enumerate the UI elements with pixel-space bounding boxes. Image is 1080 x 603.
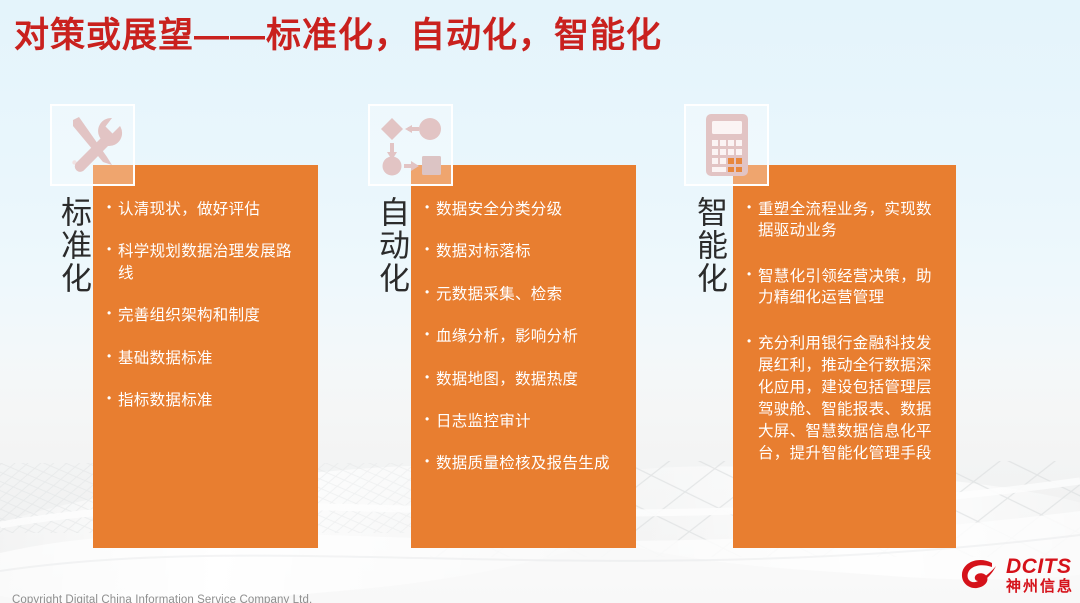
list-item: 数据质量检核及报告生成	[425, 453, 624, 474]
brand-name-en: DCITS	[1006, 556, 1074, 577]
list-item: 指标数据标准	[107, 390, 306, 411]
brand-text: DCITS 神州信息	[1006, 556, 1074, 594]
flowchart-diagram-icon	[368, 104, 453, 186]
column-label-standardization: 标准化	[58, 196, 94, 295]
panel-standardization: 认清现状，做好评估 科学规划数据治理发展路线 完善组织架构和制度 基础数据标准 …	[93, 165, 318, 548]
list-item: 充分利用银行金融科技发展红利，推动全行数据深化应用，建设包括管理层驾驶舱、智能报…	[747, 333, 944, 465]
bullet-list-standardization: 认清现状，做好评估 科学规划数据治理发展路线 完善组织架构和制度 基础数据标准 …	[107, 199, 306, 411]
panel-automation: 数据安全分类分级 数据对标落标 元数据采集、检索 血缘分析，影响分析 数据地图，…	[411, 165, 636, 548]
list-item: 完善组织架构和制度	[107, 305, 306, 326]
list-item: 数据地图，数据热度	[425, 369, 624, 390]
page-title: 对策或展望——标准化，自动化，智能化	[14, 17, 662, 56]
dcits-swirl-icon	[959, 558, 999, 592]
bullet-list-intelligence: 重塑全流程业务，实现数据驱动业务 智慧化引领经营决策，助力精细化运营管理 充分利…	[747, 199, 944, 465]
brand-name-cn: 神州信息	[1006, 579, 1074, 594]
list-item: 数据安全分类分级	[425, 199, 624, 220]
tools-wrench-screwdriver-icon	[50, 104, 135, 186]
column-label-intelligence: 智能化	[694, 196, 730, 295]
calculator-icon	[684, 104, 769, 186]
slide-canvas: 对策或展望——标准化，自动化，智能化 标准化 认清现状，做好评估 科学规划数据治…	[0, 0, 1080, 603]
list-item: 智慧化引领经营决策，助力精细化运营管理	[747, 266, 944, 309]
panel-intelligence: 重塑全流程业务，实现数据驱动业务 智慧化引领经营决策，助力精细化运营管理 充分利…	[733, 165, 956, 548]
list-item: 科学规划数据治理发展路线	[107, 241, 306, 284]
list-item: 数据对标落标	[425, 241, 624, 262]
brand-logo: DCITS 神州信息	[959, 553, 1074, 597]
list-item: 重塑全流程业务，实现数据驱动业务	[747, 199, 944, 242]
list-item: 认清现状，做好评估	[107, 199, 306, 220]
list-item: 日志监控审计	[425, 411, 624, 432]
bullet-list-automation: 数据安全分类分级 数据对标落标 元数据采集、检索 血缘分析，影响分析 数据地图，…	[425, 199, 624, 475]
list-item: 血缘分析，影响分析	[425, 326, 624, 347]
title-bar: 对策或展望——标准化，自动化，智能化	[14, 8, 1054, 64]
list-item: 基础数据标准	[107, 348, 306, 369]
list-item: 元数据采集、检索	[425, 284, 624, 305]
footer-copyright: Copyright Digital China Information Serv…	[12, 594, 312, 603]
column-label-automation: 自动化	[376, 196, 412, 295]
